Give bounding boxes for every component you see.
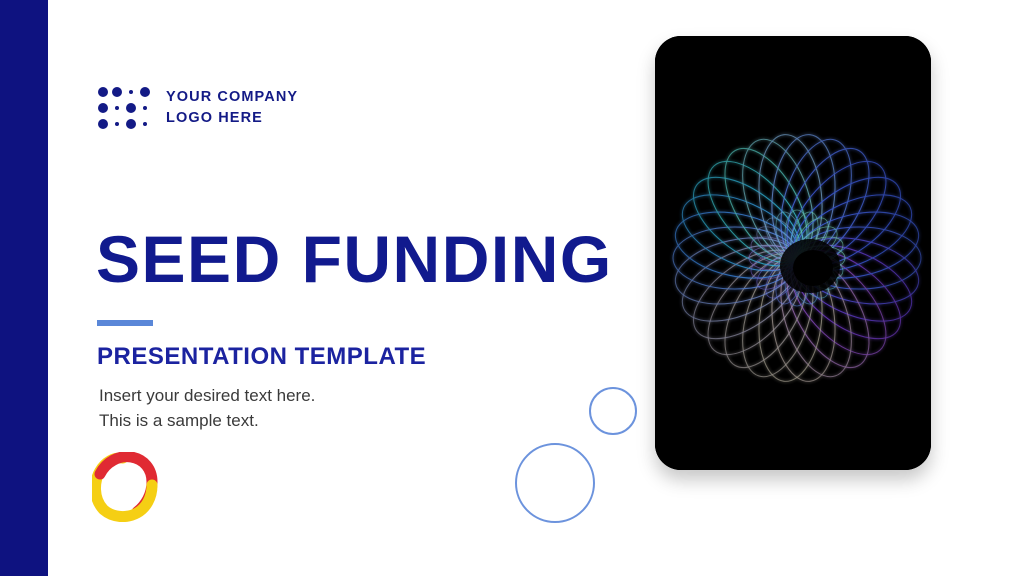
logo-dot [112,87,122,97]
logo-dot [98,103,108,113]
logo-dot [98,87,108,97]
logo-dot [126,119,136,129]
logo-dot [98,119,108,129]
left-accent-sidebar [0,0,48,576]
logo-dot [143,106,147,110]
logo-dot [143,122,147,126]
decorative-circle-large [515,443,595,523]
accent-divider [97,320,153,326]
logo-dot [115,106,119,110]
dot-matrix-icon [96,84,152,132]
logo-dot [140,87,150,97]
presentation-slide: YOUR COMPANY LOGO HERE SEED FUNDING PRES… [0,0,1024,576]
logo-dot [126,103,136,113]
artwork-panel [655,36,931,470]
logo-dot [129,90,133,94]
company-logo-text: YOUR COMPANY LOGO HERE [166,87,298,129]
slide-title: SEED FUNDING [96,226,613,292]
slide-subtitle: PRESENTATION TEMPLATE [97,344,426,370]
company-logo-lockup: YOUR COMPANY LOGO HERE [96,84,298,132]
decorative-circle-small [589,387,637,435]
slide-body-text: Insert your desired text here. This is a… [99,384,315,433]
logo-dot [115,122,119,126]
brand-ring-icon [92,452,158,522]
